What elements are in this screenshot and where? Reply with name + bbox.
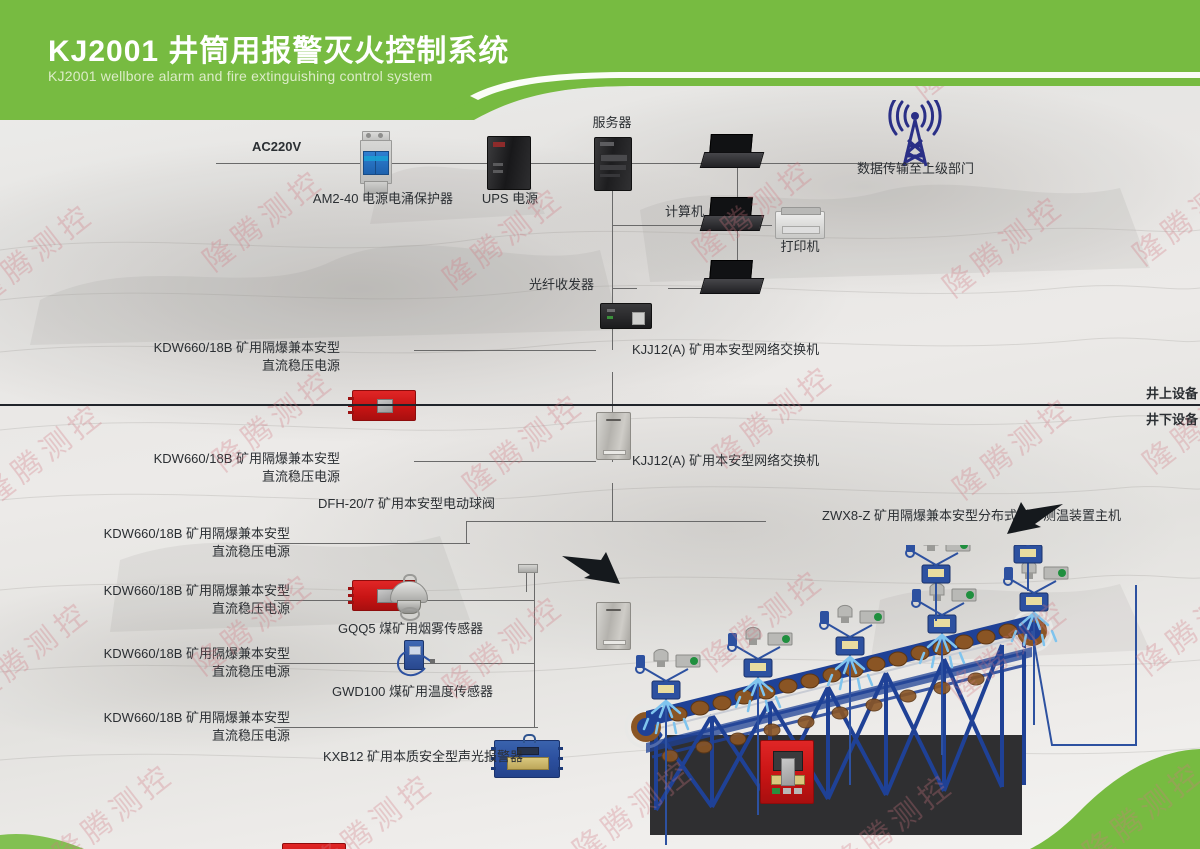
wire-psu-to-switch-surface <box>414 350 596 351</box>
fiber-host-device <box>760 740 814 804</box>
psu-ug4-label-line2: 直流稳压电源 <box>60 663 290 681</box>
temp-sensor-label: GWD100 煤矿用温度传感器 <box>330 683 495 701</box>
spray-station-group <box>600 545 1200 849</box>
psu-surface-label-line2: 直流稳压电源 <box>110 357 340 375</box>
page-subtitle: KJ2001 wellbore alarm and fire extinguis… <box>48 68 433 84</box>
smoke-sensor-device <box>385 574 431 620</box>
psu-ug2-label-line2: 直流稳压电源 <box>60 543 290 561</box>
switch-surface-device <box>596 412 631 460</box>
psu-ug4-label-line1: KDW660/18B 矿用隔爆兼本安型 <box>60 645 290 663</box>
below-ground-label: 井下设备 <box>1146 411 1198 429</box>
psu-ug1-label-line2: 直流稳压电源 <box>110 468 340 486</box>
ups-device <box>487 136 531 190</box>
psu-ug3-label-line2: 直流稳压电源 <box>60 600 290 618</box>
fiber-converter-device <box>600 303 652 329</box>
switch-underground-label: KJJ12(A) 矿用本安型网络交换机 <box>632 452 819 470</box>
wire-ac-to-server <box>216 163 600 164</box>
psu-ug5-label-line1: KDW660/18B 矿用隔爆兼本安型 <box>60 709 290 727</box>
temp-sensor-device <box>392 640 436 680</box>
server-device <box>594 137 632 191</box>
ups-label: UPS 电源 <box>470 190 550 208</box>
valve-flange <box>518 564 538 573</box>
system-diagram: AC220V AM2-40 电源电涌保护器 UPS 电源 服务器 <box>0 0 1200 849</box>
psu-ug5-label-line2: 直流稳压电源 <box>60 727 290 745</box>
psu-surface-label-line1: KDW660/18B 矿用隔爆兼本安型 <box>110 339 340 357</box>
alarm-label: KXB12 矿用本质安全型声光报警器 <box>308 748 538 766</box>
spd-device <box>358 131 392 193</box>
uplink-label: 数据传输至上级部门 <box>843 160 988 178</box>
computer-label: 计算机 <box>665 203 704 221</box>
printer-label: 打印机 <box>760 238 840 256</box>
diagram-canvas: 隆腾测控 隆腾测控 隆腾测控 隆腾测控 隆腾测控 隆腾测控 隆腾测控 隆腾测控 … <box>0 0 1200 849</box>
fiber-converter-label: 光纤收发器 <box>486 276 594 294</box>
computer-device <box>702 260 760 294</box>
psu-ug1-label-line1: KDW660/18B 矿用隔爆兼本安型 <box>110 450 340 468</box>
wire-to-converter <box>612 288 637 289</box>
psu-ug2-label-line1: KDW660/18B 矿用隔爆兼本安型 <box>60 525 290 543</box>
wire-psu1-to-valve <box>274 543 470 544</box>
wire-switch-to-fiberhost <box>466 521 766 522</box>
wire-alarm-bus <box>420 727 538 728</box>
pointer-arrow-right <box>1005 500 1065 542</box>
ac-input-label: AC220V <box>252 138 301 156</box>
page-title: KJ2001 井筒用报警灭火控制系统 <box>48 26 509 70</box>
fiber-host-label: ZWX8-Z 矿用隔爆兼本安型分布式光纤测温装置主机 <box>822 507 1121 525</box>
smoke-sensor-label: GQQ5 煤矿用烟雾传感器 <box>338 620 483 638</box>
wire-switch-down <box>612 483 613 521</box>
wire-sensor-bus <box>534 564 535 728</box>
page-header: KJ2001 井筒用报警灭火控制系统 KJ2001 wellbore alarm… <box>0 0 1200 120</box>
psu-ug2-device <box>282 843 346 849</box>
wire-to-valve <box>466 521 467 543</box>
wire-psu-to-switch-underground <box>414 461 596 462</box>
spd-label: AM2-40 电源电涌保护器 <box>308 190 458 208</box>
ground-divider <box>0 404 1200 406</box>
valve-label: DFH-20/7 矿用本安型电动球阀 <box>230 495 495 513</box>
printer-device <box>775 211 825 239</box>
computer-device <box>702 134 760 168</box>
above-ground-label: 井上设备 <box>1146 385 1198 403</box>
switch-underground-device <box>596 602 631 650</box>
switch-surface-label: KJJ12(A) 矿用本安型网络交换机 <box>632 341 819 359</box>
pointer-arrow-left <box>560 548 624 586</box>
psu-ug3-label-line1: KDW660/18B 矿用隔爆兼本安型 <box>60 582 290 600</box>
computer-device <box>702 197 760 231</box>
